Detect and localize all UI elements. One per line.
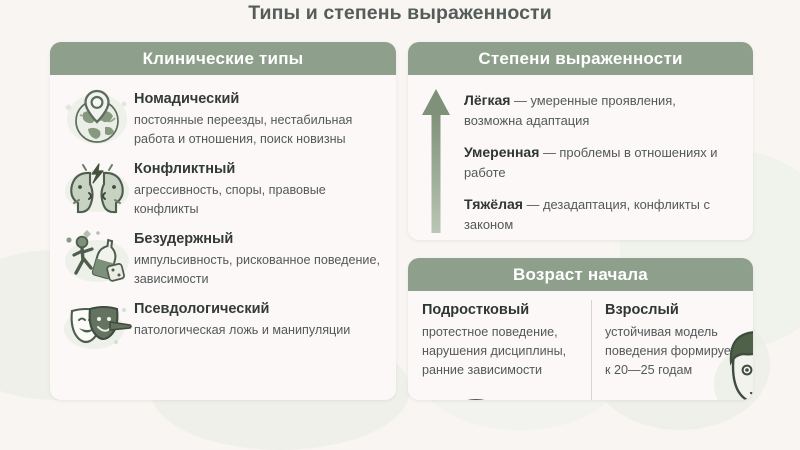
list-item-text: Псевдологический патологическая ложь и м… bbox=[134, 295, 350, 340]
severity-dash: — bbox=[510, 93, 530, 108]
type-description: импульсивность, рискованное поведение, з… bbox=[134, 251, 384, 288]
arguing-heads-icon bbox=[60, 155, 134, 217]
theater-masks-icon bbox=[60, 295, 134, 357]
age-of-onset-header: Возраст начала bbox=[408, 258, 753, 291]
globe-pin-icon bbox=[60, 85, 134, 147]
list-item: Номадический постоянные переезды, нестаб… bbox=[50, 81, 396, 151]
list-item-text: Номадический постоянные переезды, нестаб… bbox=[134, 85, 384, 148]
severity-level: Лёгкая bbox=[464, 92, 510, 108]
age-column-teen: Подростковый протестное поведение, наруш… bbox=[408, 300, 591, 400]
teen-face-icon bbox=[436, 392, 516, 400]
age-of-onset-body: Подростковый протестное поведение, наруш… bbox=[408, 291, 753, 400]
list-item-text: Безудержный импульсивность, рискованное … bbox=[134, 225, 384, 288]
type-description: патологическая ложь и манипуляции bbox=[134, 321, 350, 340]
age-description: протестное поведение, нарушения дисципли… bbox=[422, 323, 582, 380]
list-item-text: Конфликтный агрессивность, споры, правов… bbox=[134, 155, 384, 218]
severity-list: Лёгкая — умеренные проявления, возможна … bbox=[464, 87, 732, 240]
type-description: постоянные переезды, нестабильная работа… bbox=[134, 111, 384, 148]
severity-body: Лёгкая — умеренные проявления, возможна … bbox=[408, 75, 753, 240]
running-person-bottle-dice-icon bbox=[60, 225, 134, 287]
list-item: Безудержный импульсивность, рискованное … bbox=[50, 221, 396, 291]
type-title: Конфликтный bbox=[134, 160, 384, 179]
age-title: Взрослый bbox=[605, 300, 753, 320]
up-arrow-icon bbox=[408, 87, 464, 240]
list-item: Тяжёлая — дезадаптация, конфликты с зако… bbox=[464, 194, 732, 235]
adult-man-icon bbox=[710, 322, 753, 400]
age-column-adult: Взрослый устойчивая модель поведения фор… bbox=[591, 300, 753, 400]
list-item: Лёгкая — умеренные проявления, возможна … bbox=[464, 90, 732, 131]
type-title: Псевдологический bbox=[134, 300, 350, 319]
severity-level: Тяжёлая bbox=[464, 196, 523, 212]
severity-dash: — bbox=[539, 145, 559, 160]
severity-card: Степени выраженности Лёгкая — умеренные … bbox=[408, 42, 753, 240]
severity-dash: — bbox=[523, 197, 543, 212]
list-item: Конфликтный агрессивность, споры, правов… bbox=[50, 151, 396, 221]
clinical-types-header: Клинические типы bbox=[50, 42, 396, 75]
page-title: Типы и степень выраженности bbox=[0, 2, 800, 25]
age-title: Подростковый bbox=[422, 300, 582, 320]
type-description: агрессивность, споры, правовые конфликты bbox=[134, 181, 384, 218]
severity-header: Степени выраженности bbox=[408, 42, 753, 75]
type-title: Номадический bbox=[134, 90, 384, 109]
clinical-types-card: Клинические типы Н bbox=[50, 42, 396, 400]
severity-level: Умеренная bbox=[464, 144, 539, 160]
age-of-onset-card: Возраст начала Подростковый протестное п… bbox=[408, 258, 753, 400]
clinical-types-body: Номадический постоянные переезды, нестаб… bbox=[50, 75, 396, 360]
list-item: Псевдологический патологическая ложь и м… bbox=[50, 291, 396, 360]
type-title: Безудержный bbox=[134, 230, 384, 249]
list-item: Умеренная — проблемы в отношениях и рабо… bbox=[464, 142, 732, 183]
